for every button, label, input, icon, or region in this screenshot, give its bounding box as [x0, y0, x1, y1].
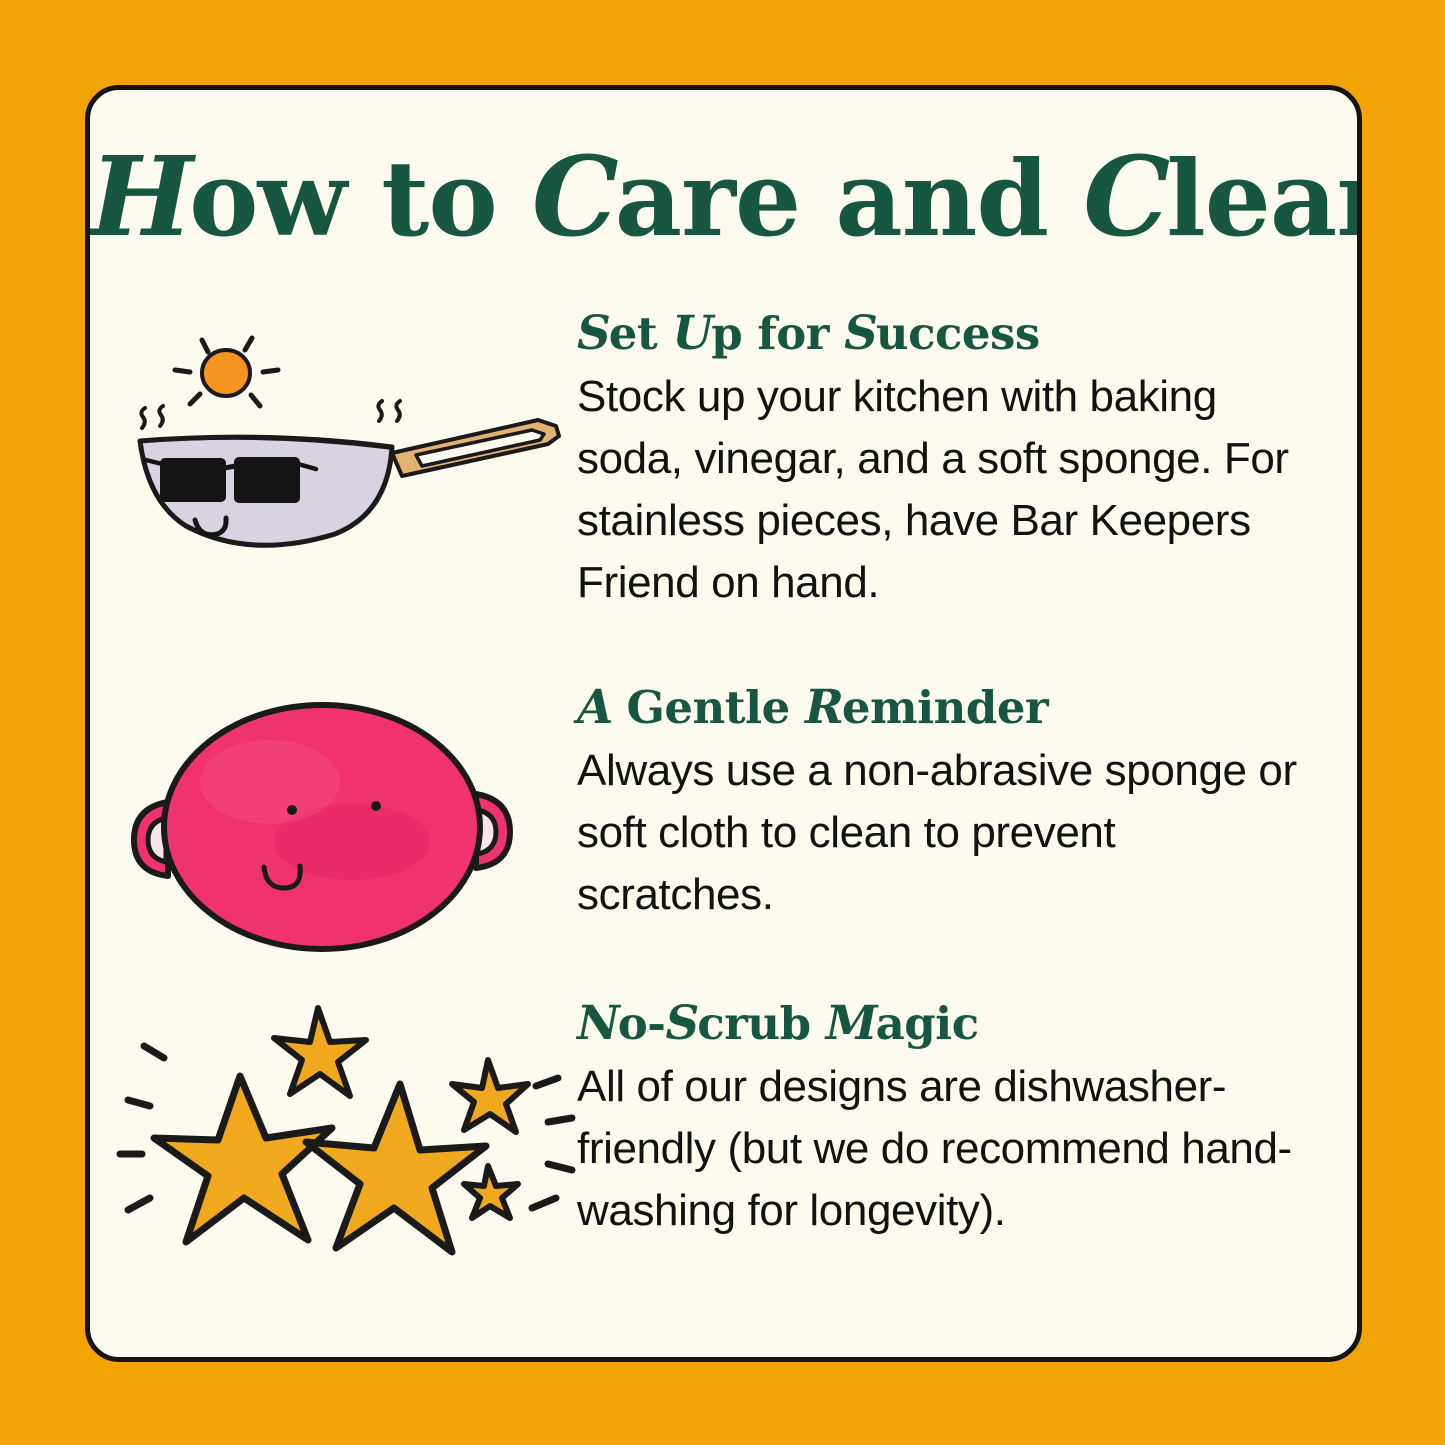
star-small-right-icon: [452, 1060, 528, 1132]
section-body-text: Always use a non-abrasive sponge or soft…: [577, 740, 1317, 926]
heading-text-3: uccess: [876, 307, 1040, 360]
frying-pan-with-sunglasses-and-sun-illustration: [120, 308, 580, 598]
dish-eye-left-icon: [287, 805, 297, 815]
heading-swash-2: S: [665, 996, 697, 1051]
section-heading: No-Scrub Magic: [577, 998, 1317, 1049]
heading-text-2: p for: [711, 307, 844, 360]
section-body-text: Stock up your kitchen with baking soda, …: [577, 366, 1317, 614]
title-part-b: are and: [615, 137, 1083, 260]
section-copy: Set Up for Success Stock up your kitchen…: [577, 308, 1317, 614]
section-heading: Set Up for Success: [577, 308, 1317, 359]
title-part-a: ow to: [189, 137, 532, 260]
heading-text-1: et: [609, 307, 673, 360]
section-body-text: All of our designs are dishwasher-friend…: [577, 1056, 1317, 1242]
heading-text-1: Gentle: [611, 681, 805, 734]
pan-handle-icon: [392, 420, 559, 476]
poster-root: How to Care and Clean: [0, 0, 1445, 1445]
heading-text-1: o-: [618, 997, 666, 1050]
heading-swash-3: S: [844, 306, 876, 361]
title-swash-h: H: [90, 132, 189, 261]
heading-swash-1: S: [577, 306, 609, 361]
page-title: How to Care and Clean: [90, 142, 1357, 251]
section-copy: No-Scrub Magic All of our designs are di…: [577, 998, 1317, 1242]
pink-casserole-dish-with-face-illustration: [120, 682, 580, 972]
sun-icon: [202, 350, 250, 396]
steam-squiggle-left-icon: [141, 406, 163, 428]
star-tiny-bottom-icon: [464, 1166, 518, 1218]
heading-text-3: agic: [876, 997, 979, 1050]
title-swash-c1: C: [532, 132, 615, 261]
heading-text-2: eminder: [842, 681, 1048, 734]
star-large-left-icon: [154, 1076, 332, 1242]
section-copy: A Gentle Reminder Always use a non-abras…: [577, 682, 1317, 926]
heading-text-2: crub: [697, 997, 825, 1050]
heading-swash-2: U: [672, 306, 711, 361]
heading-swash-1: A: [577, 680, 611, 735]
star-large-right-icon: [306, 1084, 486, 1252]
dish-highlight: [200, 740, 340, 824]
title-swash-c2: C: [1083, 132, 1166, 261]
dish-eye-right-icon: [371, 801, 381, 811]
heading-swash-1: N: [577, 996, 618, 1051]
heading-swash-2: R: [805, 680, 842, 735]
steam-squiggle-right-icon: [378, 401, 400, 421]
star-small-top-icon: [274, 1008, 366, 1096]
section-heading: A Gentle Reminder: [577, 682, 1317, 733]
sparkle-dashes-right-icon: [532, 1078, 572, 1208]
five-sparkling-stars-illustration: [120, 998, 580, 1288]
sparkle-dashes-left-icon: [120, 1046, 164, 1210]
care-instructions-card: How to Care and Clean: [85, 85, 1362, 1362]
heading-swash-3: M: [826, 996, 876, 1051]
title-part-c: lean: [1166, 137, 1362, 260]
